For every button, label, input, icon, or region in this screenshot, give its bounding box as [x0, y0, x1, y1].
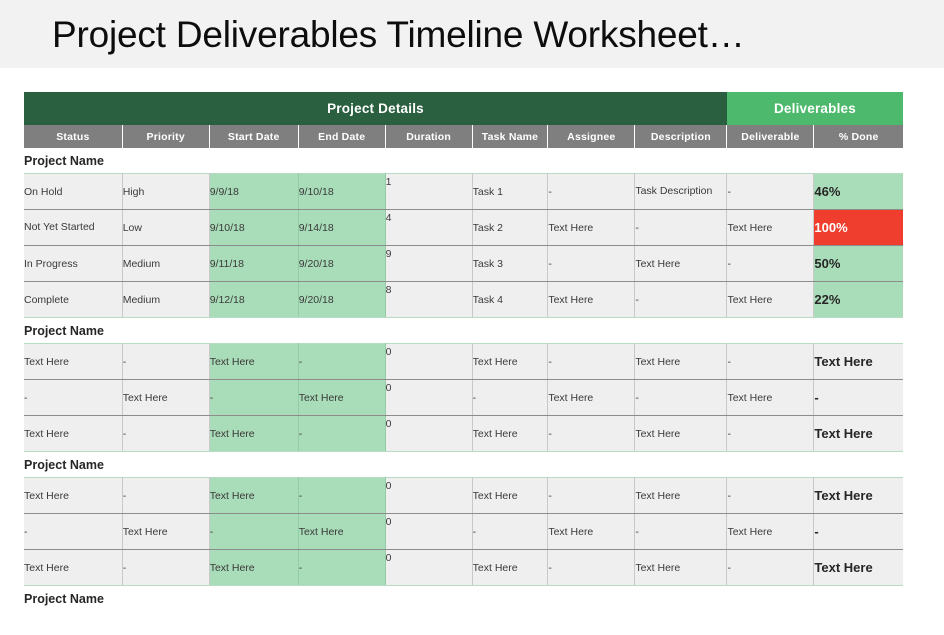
cell-description[interactable]: Text Here	[635, 246, 727, 282]
cell-task-name[interactable]: Task 2	[472, 210, 548, 246]
cell-status[interactable]: Complete	[24, 282, 122, 318]
cell-end-date[interactable]: 9/20/18	[298, 246, 385, 282]
cell-end-date[interactable]: -	[298, 416, 385, 452]
cell-description[interactable]: -	[635, 514, 727, 550]
cell-start-date[interactable]: Text Here	[209, 344, 298, 380]
cell-deliverable[interactable]: -	[727, 246, 814, 282]
cell-priority[interactable]: -	[122, 478, 209, 514]
cell-done[interactable]: 22%	[814, 282, 903, 318]
cell-duration[interactable]: 1	[385, 174, 472, 210]
project-name-label[interactable]: Project Name	[24, 148, 903, 174]
cell-priority[interactable]: High	[122, 174, 209, 210]
project-name-band: Project Name	[24, 586, 903, 612]
table-row[interactable]: -Text Here-Text Here0-Text Here-Text Her…	[24, 514, 903, 550]
cell-end-date[interactable]: 9/10/18	[298, 174, 385, 210]
cell-duration[interactable]: 0	[385, 478, 472, 514]
table-row[interactable]: Text Here-Text Here-0Text Here-Text Here…	[24, 416, 903, 452]
cell-description[interactable]: -	[635, 282, 727, 318]
cell-assignee[interactable]: -	[548, 550, 635, 586]
cell-priority[interactable]: Low	[122, 210, 209, 246]
cell-start-date[interactable]: -	[209, 380, 298, 416]
cell-duration[interactable]: 4	[385, 210, 472, 246]
cell-task-name[interactable]: Task 4	[472, 282, 548, 318]
table-row[interactable]: On HoldHigh9/9/189/10/181Task 1-Task Des…	[24, 174, 903, 210]
cell-description[interactable]: Text Here	[635, 550, 727, 586]
column-header-priority[interactable]: Priority	[122, 125, 209, 148]
table-row[interactable]: In ProgressMedium9/11/189/20/189Task 3-T…	[24, 246, 903, 282]
cell-task-name[interactable]: Text Here	[472, 550, 548, 586]
project-name-label[interactable]: Project Name	[24, 318, 903, 344]
cell-end-date[interactable]: 9/14/18	[298, 210, 385, 246]
cell-done[interactable]: 100%	[814, 210, 903, 246]
cell-end-date[interactable]: Text Here	[298, 380, 385, 416]
cell-deliverable[interactable]: Text Here	[727, 514, 814, 550]
cell-end-date[interactable]: -	[298, 344, 385, 380]
column-header-row: StatusPriorityStart DateEnd DateDuration…	[24, 125, 903, 148]
cell-task-name[interactable]: Text Here	[472, 416, 548, 452]
cell-assignee[interactable]: Text Here	[548, 210, 635, 246]
cell-assignee[interactable]: Text Here	[548, 282, 635, 318]
cell-done[interactable]: Text Here	[814, 550, 903, 586]
project-name-band: Project Name	[24, 452, 903, 478]
group-header-project-details: Project Details	[24, 92, 727, 125]
cell-priority[interactable]: -	[122, 344, 209, 380]
cell-deliverable[interactable]: -	[727, 416, 814, 452]
cell-end-date[interactable]: -	[298, 550, 385, 586]
project-name-band: Project Name	[24, 318, 903, 344]
cell-start-date[interactable]: Text Here	[209, 478, 298, 514]
deliverables-table: Project DetailsDeliverablesStatusPriorit…	[24, 92, 903, 611]
cell-duration[interactable]: 8	[385, 282, 472, 318]
cell-task-name[interactable]: Text Here	[472, 344, 548, 380]
cell-status[interactable]: Text Here	[24, 344, 122, 380]
cell-done[interactable]: -	[814, 514, 903, 550]
cell-description[interactable]: Text Here	[635, 344, 727, 380]
project-name-label[interactable]: Project Name	[24, 452, 903, 478]
cell-status[interactable]: -	[24, 514, 122, 550]
table-row[interactable]: Text Here-Text Here-0Text Here-Text Here…	[24, 344, 903, 380]
cell-deliverable[interactable]: -	[727, 550, 814, 586]
column-header-start-date[interactable]: Start Date	[209, 125, 298, 148]
cell-start-date[interactable]: Text Here	[209, 416, 298, 452]
title-band: Project Deliverables Timeline Worksheet…	[0, 0, 944, 68]
cell-assignee[interactable]: Text Here	[548, 380, 635, 416]
cell-status[interactable]: Text Here	[24, 416, 122, 452]
column-header-task-name[interactable]: Task Name	[472, 125, 548, 148]
table-row[interactable]: Not Yet StartedLow9/10/189/14/184Task 2T…	[24, 210, 903, 246]
cell-duration[interactable]: 9	[385, 246, 472, 282]
cell-task-name[interactable]: Task 1	[472, 174, 548, 210]
project-name-label[interactable]: Project Name	[24, 586, 903, 612]
cell-status[interactable]: In Progress	[24, 246, 122, 282]
cell-done[interactable]: Text Here	[814, 416, 903, 452]
cell-assignee[interactable]: -	[548, 416, 635, 452]
cell-description[interactable]: Text Here	[635, 478, 727, 514]
cell-deliverable[interactable]: -	[727, 174, 814, 210]
column-header-status[interactable]: Status	[24, 125, 122, 148]
cell-duration[interactable]: 0	[385, 344, 472, 380]
cell-assignee[interactable]: -	[548, 478, 635, 514]
cell-assignee[interactable]: -	[548, 344, 635, 380]
column-header-done[interactable]: % Done	[814, 125, 903, 148]
cell-done[interactable]: -	[814, 380, 903, 416]
worksheet-sheet: Project DetailsDeliverablesStatusPriorit…	[0, 68, 944, 611]
cell-task-name[interactable]: Text Here	[472, 478, 548, 514]
page-title: Project Deliverables Timeline Worksheet…	[52, 16, 745, 53]
cell-priority[interactable]: -	[122, 416, 209, 452]
cell-task-name[interactable]: -	[472, 380, 548, 416]
cell-start-date[interactable]: -	[209, 514, 298, 550]
cell-status[interactable]: -	[24, 380, 122, 416]
table-row[interactable]: Text Here-Text Here-0Text Here-Text Here…	[24, 478, 903, 514]
cell-deliverable[interactable]: -	[727, 344, 814, 380]
column-header-end-date[interactable]: End Date	[298, 125, 385, 148]
project-name-band: Project Name	[24, 148, 903, 174]
group-header-deliverables: Deliverables	[727, 92, 903, 125]
cell-status[interactable]: Text Here	[24, 550, 122, 586]
cell-priority[interactable]: -	[122, 550, 209, 586]
cell-assignee[interactable]: Text Here	[548, 514, 635, 550]
column-header-duration[interactable]: Duration	[385, 125, 472, 148]
cell-task-name[interactable]: Task 3	[472, 246, 548, 282]
cell-priority[interactable]: Medium	[122, 246, 209, 282]
cell-end-date[interactable]: 9/20/18	[298, 282, 385, 318]
column-header-deliverable[interactable]: Deliverable	[727, 125, 814, 148]
cell-start-date[interactable]: Text Here	[209, 550, 298, 586]
cell-start-date[interactable]: 9/10/18	[209, 210, 298, 246]
cell-done[interactable]: 46%	[814, 174, 903, 210]
table-row[interactable]: Text Here-Text Here-0Text Here-Text Here…	[24, 550, 903, 586]
cell-start-date[interactable]: 9/11/18	[209, 246, 298, 282]
cell-end-date[interactable]: -	[298, 478, 385, 514]
table-row[interactable]: -Text Here-Text Here0-Text Here-Text Her…	[24, 380, 903, 416]
cell-deliverable[interactable]: Text Here	[727, 380, 814, 416]
cell-status[interactable]: On Hold	[24, 174, 122, 210]
column-header-assignee[interactable]: Assignee	[548, 125, 635, 148]
cell-duration[interactable]: 0	[385, 550, 472, 586]
cell-deliverable[interactable]: -	[727, 478, 814, 514]
cell-start-date[interactable]: 9/9/18	[209, 174, 298, 210]
cell-duration[interactable]: 0	[385, 514, 472, 550]
cell-start-date[interactable]: 9/12/18	[209, 282, 298, 318]
cell-done[interactable]: Text Here	[814, 344, 903, 380]
cell-deliverable[interactable]: Text Here	[727, 210, 814, 246]
cell-status[interactable]: Not Yet Started	[24, 210, 122, 246]
cell-description[interactable]: Task Description	[635, 174, 727, 210]
cell-assignee[interactable]: -	[548, 174, 635, 210]
cell-description[interactable]: -	[635, 380, 727, 416]
cell-description[interactable]: Text Here	[635, 416, 727, 452]
cell-description[interactable]: -	[635, 210, 727, 246]
cell-status[interactable]: Text Here	[24, 478, 122, 514]
cell-priority[interactable]: Medium	[122, 282, 209, 318]
group-header-row: Project DetailsDeliverables	[24, 92, 903, 125]
cell-end-date[interactable]: Text Here	[298, 514, 385, 550]
cell-done[interactable]: 50%	[814, 246, 903, 282]
cell-assignee[interactable]: -	[548, 246, 635, 282]
cell-priority[interactable]: Text Here	[122, 514, 209, 550]
cell-task-name[interactable]: -	[472, 514, 548, 550]
cell-duration[interactable]: 0	[385, 416, 472, 452]
cell-priority[interactable]: Text Here	[122, 380, 209, 416]
table-row[interactable]: CompleteMedium9/12/189/20/188Task 4Text …	[24, 282, 903, 318]
cell-done[interactable]: Text Here	[814, 478, 903, 514]
cell-duration[interactable]: 0	[385, 380, 472, 416]
cell-deliverable[interactable]: Text Here	[727, 282, 814, 318]
column-header-description[interactable]: Description	[635, 125, 727, 148]
